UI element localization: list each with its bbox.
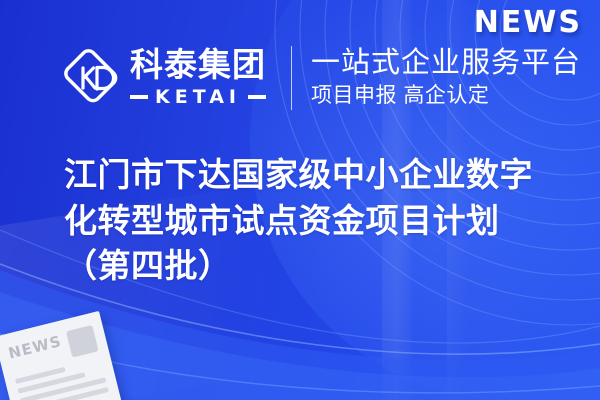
logo-name-en-row: KETAI [130, 86, 266, 108]
newspaper-headline: NEWS [6, 332, 63, 363]
logo-name-en: KETAI [148, 86, 248, 108]
banner-header: 科泰集团 KETAI 一站式企业服务平台 项目申报 高企认定 [62, 41, 581, 115]
logo-name-cn: 科泰集团 [130, 48, 266, 82]
slogan-sub: 项目申报 高企认定 [311, 82, 581, 110]
image-placeholder-icon [66, 325, 99, 358]
news-badge: NEWS [474, 5, 582, 40]
slogan-main: 一站式企业服务平台 [311, 46, 581, 80]
news-banner: NEWS 科泰集团 KE [0, 0, 600, 400]
header-divider [291, 46, 292, 110]
logo-dash-left [130, 95, 148, 99]
ketai-diamond-monogram-icon [62, 47, 124, 109]
slogan-block: 一站式企业服务平台 项目申报 高企认定 [311, 46, 581, 111]
page-title: 江门市下达国家级中小企业数字化转型城市试点资金项目计划（第四批） [64, 152, 564, 289]
logo-wordmark: 科泰集团 KETAI [130, 48, 266, 107]
logo-dash-right [248, 95, 266, 99]
